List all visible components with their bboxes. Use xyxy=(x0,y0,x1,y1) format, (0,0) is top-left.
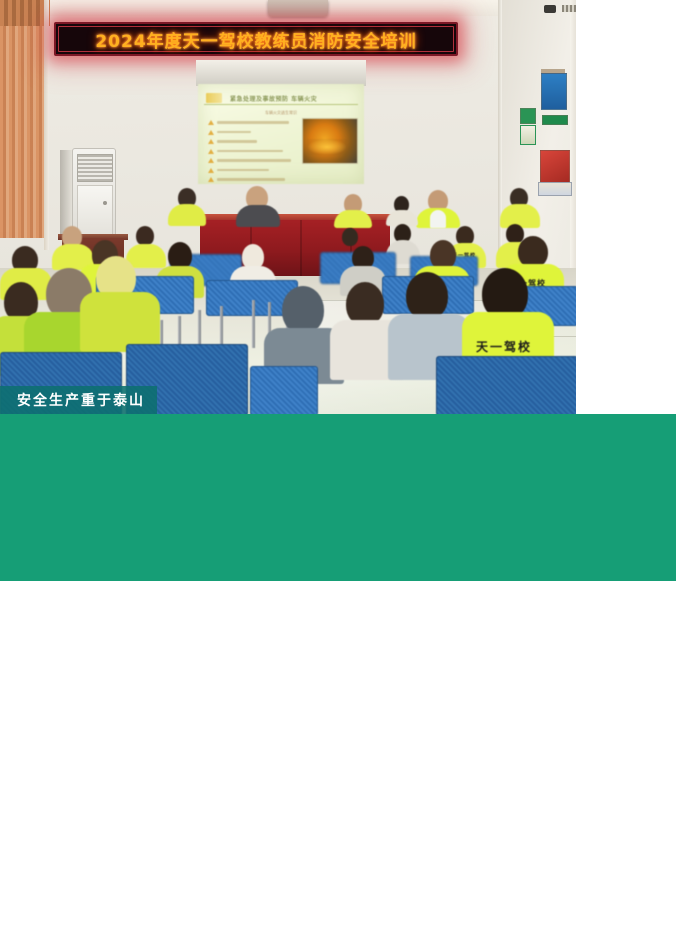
slide-subtitle: 车辆火灾逃生常识 xyxy=(198,110,364,116)
presenter-shirt xyxy=(430,210,446,228)
led-banner-text: 2024年度天一驾校教练员消防安全培训 xyxy=(95,27,416,52)
slide-bullet xyxy=(208,158,292,163)
warning-triangle-icon xyxy=(208,139,214,144)
curtain-valance xyxy=(0,0,50,26)
wall-sign-green xyxy=(520,108,536,124)
slide-logo-icon xyxy=(206,93,222,103)
led-banner: 2024年度天一驾校教练员消防安全培训 xyxy=(54,22,458,56)
ac-front-panel xyxy=(77,185,113,237)
warning-triangle-icon xyxy=(208,158,214,163)
screen-roller xyxy=(196,60,366,86)
attendee-body xyxy=(168,204,206,226)
warning-triangle-icon xyxy=(208,130,214,135)
projector-lens xyxy=(544,5,556,13)
slide-title: 紧急处理及事故预防 车辆火灾 xyxy=(230,94,317,103)
attendee-body xyxy=(500,204,540,228)
slide-bullet xyxy=(208,168,292,173)
warning-triangle-icon xyxy=(208,120,214,125)
presenter-body xyxy=(236,205,280,227)
window-curtain xyxy=(0,0,44,238)
slide-fire-photo xyxy=(302,118,358,164)
caption-paragraph: 活动现场，安全管理人员首先结合驾校工作性质、夏季高温等特点，对汽车突发起火场景，… xyxy=(14,842,664,952)
warning-triangle-icon xyxy=(208,177,214,182)
ac-vent-grill xyxy=(77,154,113,182)
caption-panel: 活动现场，安全管理人员首先结合驾校工作性质、夏季高温等特点，对汽车突发起火场景，… xyxy=(0,414,676,581)
chair xyxy=(250,366,318,414)
slide-bullet xyxy=(208,139,292,144)
attendee-head xyxy=(136,226,154,246)
attendee-head xyxy=(282,286,324,334)
projector-vent xyxy=(562,5,576,12)
wall-edge xyxy=(44,0,49,250)
ceiling-projector xyxy=(268,0,328,17)
slide-bullet xyxy=(208,130,292,135)
slide-bullet xyxy=(208,149,292,154)
training-photo: 2024年度天一驾校教练员消防安全培训 紧急处理及事故预防 车辆火灾 车辆火灾逃… xyxy=(0,0,576,414)
attendee-head xyxy=(342,228,358,246)
wall-poster-blue xyxy=(541,73,567,110)
attendee-body xyxy=(80,292,160,352)
wall-sign-board xyxy=(520,125,536,145)
slide-bullet xyxy=(208,177,292,182)
ac-indicator-light xyxy=(103,201,107,205)
wall-poster-caption xyxy=(538,182,572,196)
slide-header: 紧急处理及事故预防 车辆火灾 xyxy=(204,92,358,105)
slide-bullet xyxy=(208,120,292,125)
presenter-body xyxy=(334,210,372,228)
warning-triangle-icon xyxy=(208,149,214,154)
wall-poster-green xyxy=(542,115,568,125)
slide-bullet-list xyxy=(208,120,292,184)
overlay-caption-text: 安全生产重于泰山 xyxy=(17,390,145,410)
wall-poster-red xyxy=(540,150,570,184)
warning-triangle-icon xyxy=(208,168,214,173)
wall-column-right xyxy=(570,0,576,300)
overlay-caption-tag: 安全生产重于泰山 xyxy=(0,386,157,414)
page-root: 2024年度天一驾校教练员消防安全培训 紧急处理及事故预防 车辆火灾 车辆火灾逃… xyxy=(0,0,676,581)
chair xyxy=(436,356,576,414)
projection-screen: 紧急处理及事故预防 车辆火灾 车辆火灾逃生常识 xyxy=(198,84,364,184)
attendee-head xyxy=(406,272,448,320)
